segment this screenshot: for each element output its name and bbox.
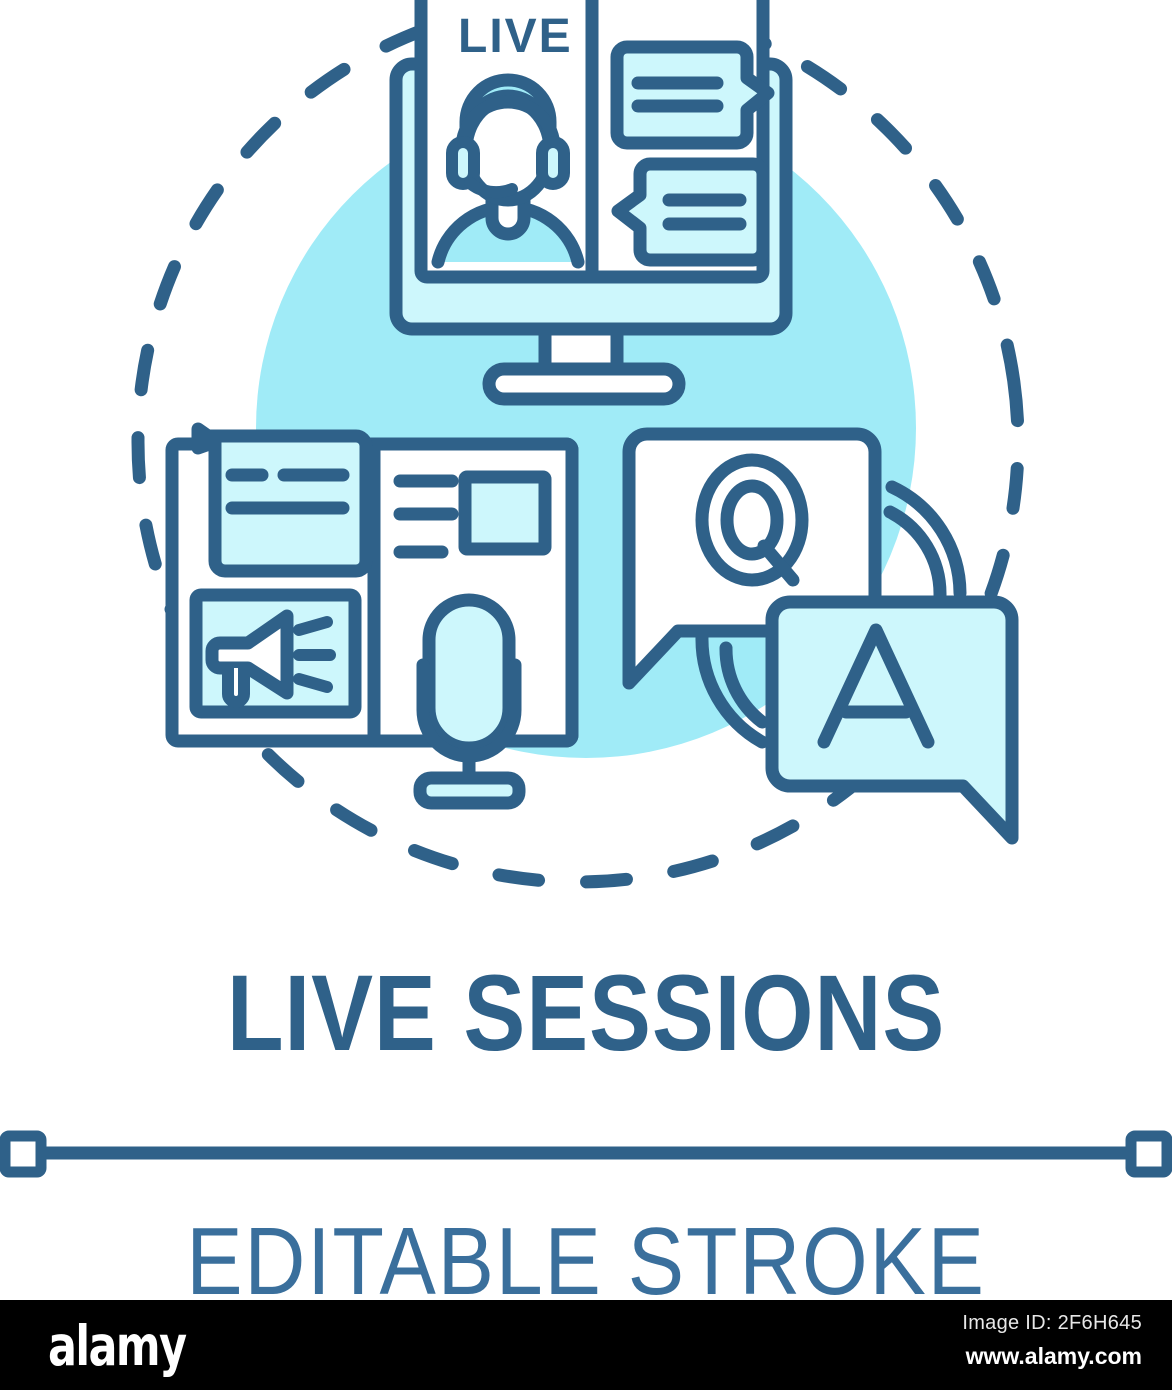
microphone-capsule [429, 600, 509, 748]
podcast-microphone [420, 600, 519, 803]
stroke-handle-right[interactable] [1131, 1136, 1167, 1172]
page-title: LIVE SESSIONS [82, 958, 1090, 1068]
image-id-label: Image ID: 2F6H645 [962, 1312, 1142, 1335]
live-sessions-illustration: LIVE [0, 0, 1172, 940]
qa-bubbles [629, 434, 1012, 838]
console-text-card [198, 429, 366, 571]
megaphone-wave-1 [299, 622, 327, 630]
alamy-logo: alamy [48, 1314, 185, 1378]
headset-earcup-right [542, 142, 564, 184]
editable-stroke-bar [0, 1118, 1172, 1188]
monitor-base [489, 369, 679, 399]
megaphone-wave-3 [299, 679, 327, 687]
chat-bubble-outgoing [618, 164, 763, 260]
footer-meta: Image ID: 2F6H645 www.alamy.com [962, 1312, 1142, 1370]
chat-bubble-incoming [617, 47, 768, 143]
live-label: LIVE [458, 10, 573, 63]
alamy-watermark-bar: alamy Image ID: 2F6H645 www.alamy.com [0, 1300, 1172, 1390]
screenshot-stage: LIVE [0, 0, 1172, 1390]
answer-bubble [772, 602, 1012, 838]
alamy-url-label: www.alamy.com [962, 1343, 1142, 1370]
microphone-base [420, 778, 519, 803]
stroke-handle-left[interactable] [5, 1136, 41, 1172]
console-thumbnail [465, 477, 545, 549]
megaphone-handle [228, 668, 244, 702]
editable-stroke-caption: EDITABLE STROKE [70, 1212, 1101, 1312]
broadcast-console-panel [172, 429, 572, 803]
